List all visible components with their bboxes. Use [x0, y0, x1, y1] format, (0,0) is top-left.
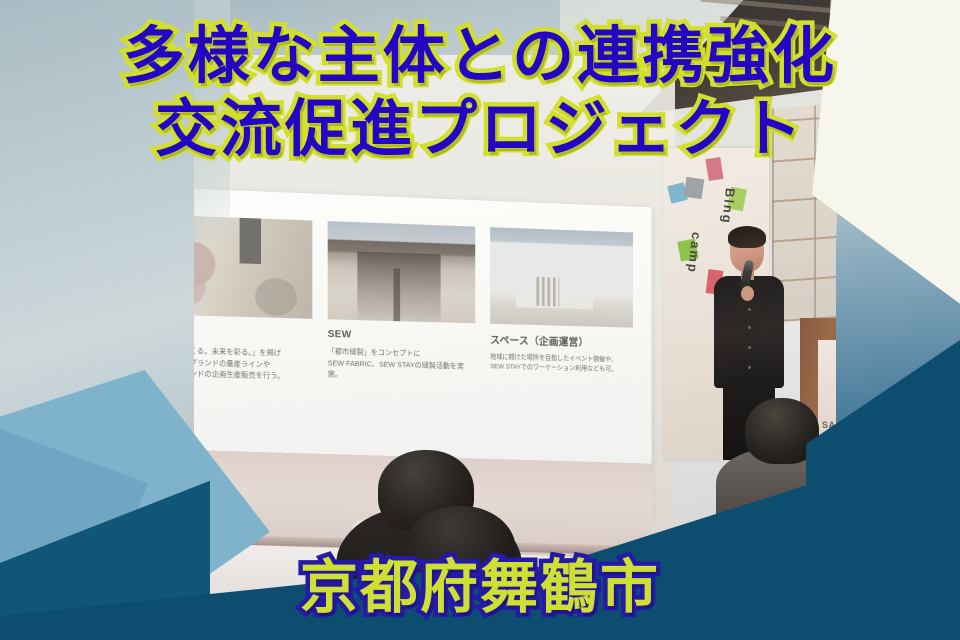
footer-block: 京都府舞鶴市: [0, 540, 960, 624]
jacket-button: [748, 308, 751, 311]
white-building-photo-icon: [490, 227, 633, 328]
slide-column: スペース（企画運営） 地域に開けた場所を目指したイベント開催や、 SEW STA…: [490, 227, 633, 389]
column-body: 地域に開けた場所を目指したイベント開催や、 SEW STAYでのワーケーション利…: [490, 353, 633, 376]
footer-location: 京都府舞鶴市: [0, 540, 960, 624]
banner-chip: [684, 177, 705, 199]
jacket-button: [748, 366, 751, 369]
title-line-1: 多様な主体との連携強化: [0, 24, 960, 87]
banner-word-top: Blng: [719, 187, 738, 225]
banner-word-bottom: camp: [685, 231, 704, 274]
title-block: 多様な主体との連携強化 交流促進プロジェクト: [0, 24, 960, 170]
title-line-2: 交流促進プロジェクト: [0, 97, 960, 160]
japanese-house-photo-icon: [328, 221, 476, 323]
slide-columns: 縫製 「服をつくる。未来を彩る。」を掲げ アパレルブランドの量産ラインや 自社ブ…: [160, 215, 633, 390]
presenter-hand: [741, 286, 754, 301]
column-title: SEW: [328, 328, 476, 344]
presenter-hair: [728, 226, 766, 248]
column-title: スペース（企画運営）: [490, 332, 633, 350]
slide-column: SEW 「都市縫製」をコンセプトに SEW FABRIC、SEW STAYの縫製…: [328, 221, 476, 386]
jacket-button: [748, 326, 751, 329]
jacket-button: [748, 346, 751, 349]
presentation-slide: 事例 縫製 「服をつくる。未来を彩る。」を掲げ アパレルブランドの量産ラインや …: [138, 196, 644, 501]
screenshot-canvas: SAK 事例 縫製 「服をつくる。未来を彩る。」を掲げ アパレルブランドの量産ラ…: [0, 0, 960, 640]
column-body: 「都市縫製」をコンセプトに SEW FABRIC、SEW STAYの縫製活動を実…: [328, 346, 476, 383]
